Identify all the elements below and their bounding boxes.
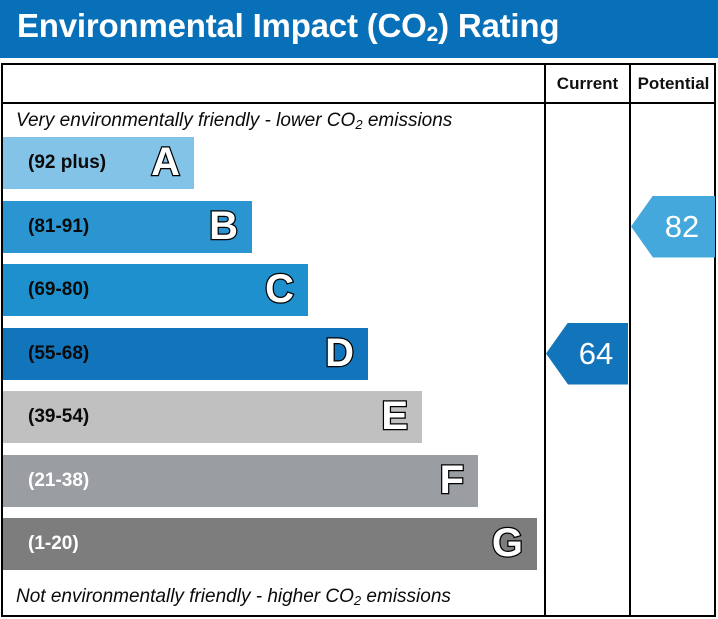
column-separator-current bbox=[544, 63, 546, 617]
rating-band-range-c: (69-80) bbox=[28, 264, 89, 316]
caption-top: Very environmentally friendly - lower CO… bbox=[16, 110, 452, 132]
header-row-separator bbox=[1, 102, 716, 104]
rating-band-b: (81-91)B bbox=[3, 201, 252, 253]
caption-top-text: Very environmentally friendly - lower CO bbox=[16, 110, 355, 131]
rating-band-range-e: (39-54) bbox=[28, 391, 89, 443]
column-separator-potential bbox=[629, 63, 631, 617]
caption-bottom-subscript: 2 bbox=[354, 593, 361, 608]
rating-band-e: (39-54)E bbox=[3, 391, 422, 443]
caption-bottom-text: Not environmentally friendly - higher CO bbox=[16, 586, 354, 607]
caption-bottom-tail: emissions bbox=[361, 586, 451, 607]
rating-band-f: (21-38)F bbox=[3, 455, 478, 507]
rating-band-a: (92 plus)A bbox=[3, 137, 194, 189]
rating-band-letter-a: A bbox=[151, 137, 180, 189]
column-header-potential: Potential bbox=[631, 70, 716, 98]
rating-band-range-a: (92 plus) bbox=[28, 137, 106, 189]
rating-band-letter-e: E bbox=[381, 391, 408, 443]
page-title-tail: ) Rating bbox=[438, 7, 559, 44]
page-title: Environmental Impact (CO2) Rating bbox=[17, 7, 559, 45]
page-title-main: Environmental Impact (CO bbox=[17, 7, 427, 44]
rating-band-letter-c: C bbox=[265, 264, 294, 316]
rating-band-range-g: (1-20) bbox=[28, 518, 79, 570]
rating-band-letter-g: G bbox=[492, 518, 523, 570]
rating-band-range-b: (81-91) bbox=[28, 201, 89, 253]
caption-top-tail: emissions bbox=[363, 110, 453, 131]
rating-band-letter-d: D bbox=[325, 328, 354, 380]
caption-top-subscript: 2 bbox=[355, 117, 362, 132]
page-title-subscript: 2 bbox=[427, 23, 438, 46]
title-bar: Environmental Impact (CO2) Rating bbox=[0, 0, 718, 58]
rating-band-c: (69-80)C bbox=[3, 264, 308, 316]
column-header-current: Current bbox=[546, 70, 629, 98]
rating-band-g: (1-20)G bbox=[3, 518, 537, 570]
rating-band-letter-b: B bbox=[209, 201, 238, 253]
rating-band-range-d: (55-68) bbox=[28, 328, 89, 380]
epc-environmental-impact-chart: Environmental Impact (CO2) Rating Curren… bbox=[0, 0, 718, 619]
caption-bottom: Not environmentally friendly - higher CO… bbox=[16, 586, 451, 608]
rating-bands: (92 plus)A(81-91)B(69-80)C(55-68)D(39-54… bbox=[3, 137, 544, 582]
rating-band-range-f: (21-38) bbox=[28, 455, 89, 507]
rating-band-d: (55-68)D bbox=[3, 328, 368, 380]
rating-band-letter-f: F bbox=[440, 455, 464, 507]
